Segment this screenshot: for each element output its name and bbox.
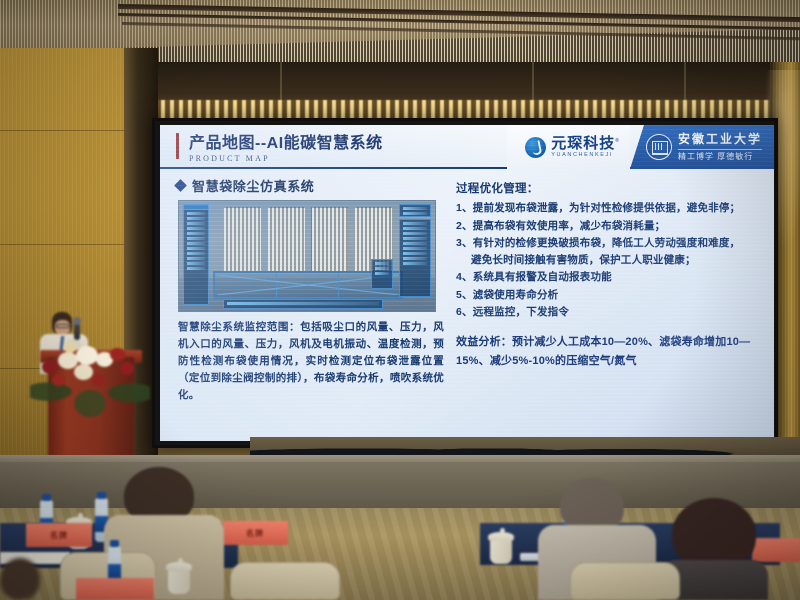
diamond-bullet-icon	[174, 179, 187, 192]
list-item-num: 4、	[456, 271, 473, 283]
list-item: 6、远程监控，下发指令	[456, 304, 762, 321]
benefit-analysis-text: 效益分析：预计减少人工成本10—20%、滤袋寿命增加10—15%、减少5%-10…	[456, 333, 762, 370]
yuanchen-logo-icon	[525, 137, 546, 158]
list-item-num: 2、	[456, 220, 473, 232]
simulation-screenshot-image	[178, 200, 436, 312]
slide-header: 产品地图--AI能碳智慧系统 PRODUCT MAP 元琛科技® YUANCHE…	[160, 125, 774, 169]
list-item: 2、提高布袋有效使用率，减少布袋消耗量；	[456, 218, 762, 235]
list-item-continuation: 避免长时间接触有害物质，保护工人职业健康；	[456, 252, 762, 269]
list-item-num: 3、	[456, 237, 473, 249]
list-item: 3、有针对的检修更换破损布袋，降低工人劳动强度和难度，避免长时间接触有害物质，保…	[456, 235, 762, 268]
brand-zone: 元琛科技® YUANCHENKEJI 安徽工业大学 精工博学 厚德敏行	[507, 125, 774, 169]
filter-bag-array	[223, 207, 393, 273]
hud-panel-left	[183, 209, 209, 305]
registered-mark-icon: ®	[615, 138, 620, 144]
list-item-text: 远程监控，下发指令	[473, 306, 569, 318]
slide-right-column: 过程优化管理： 1、提前发现布袋泄露，为针对性检修提供依据，避免非停； 2、提高…	[456, 176, 762, 435]
slide-title-english: PRODUCT MAP	[189, 154, 383, 163]
slide-title: 产品地图--AI能碳智慧系统	[189, 129, 383, 153]
hud-panel-mid	[371, 259, 393, 289]
left-paragraph: 智慧除尘系统监控范围：包括吸尘口的风量、压力，风机入口的风量、压力，风机及电机振…	[178, 319, 444, 404]
list-item: 5、滤袋使用寿命分析	[456, 287, 762, 304]
section-title: 智慧袋除尘仿真系统	[192, 176, 314, 195]
university-name-block: 安徽工业大学 精工博学 厚德敏行	[678, 133, 762, 161]
title-block: 产品地图--AI能碳智慧系统 PRODUCT MAP	[189, 129, 383, 163]
university-seal-icon	[646, 134, 672, 160]
led-screen: 产品地图--AI能碳智慧系统 PRODUCT MAP 元琛科技® YUANCHE…	[152, 118, 778, 448]
decorative-light-band	[134, 100, 800, 120]
hud-panel-top-right	[399, 204, 431, 217]
tea-cup	[168, 568, 190, 594]
section-heading: 智慧袋除尘仿真系统	[174, 176, 446, 195]
university-logo-block: 安徽工业大学 精工博学 厚德敏行	[630, 125, 774, 169]
list-item-num: 6、	[456, 306, 473, 318]
list-item-text: 有针对的检修更换破损布袋，降低工人劳动强度和难度，	[473, 237, 741, 249]
university-name: 安徽工业大学	[678, 133, 762, 147]
list-item-text: 系统具有报警及自动报表功能	[473, 271, 612, 283]
title-accent-bar	[176, 133, 179, 159]
slide-left-column: 智慧袋除尘仿真系统	[174, 176, 446, 435]
presentation-slide: 产品地图--AI能碳智慧系统 PRODUCT MAP 元琛科技® YUANCHE…	[160, 125, 774, 441]
name-placard	[752, 538, 800, 562]
audience-head	[0, 558, 40, 600]
right-column-heading: 过程优化管理：	[456, 180, 762, 196]
company-logo-block: 元琛科技® YUANCHENKEJI	[507, 125, 630, 169]
university-motto: 精工博学 厚德敏行	[678, 149, 762, 161]
conference-photo-scene: 产品地图--AI能碳智慧系统 PRODUCT MAP 元琛科技® YUANCHE…	[0, 0, 800, 600]
list-item-text: 提高布袋有效使用率，减少布袋消耗量；	[473, 220, 666, 232]
list-item-num: 5、	[456, 289, 473, 301]
list-item-text: 滤袋使用寿命分析	[473, 289, 559, 301]
slide-body: 智慧袋除尘仿真系统	[160, 169, 774, 441]
name-placard: 名牌	[222, 521, 288, 545]
list-item-text: 提前发现布袋泄露，为针对性检修提供依据，避免非停；	[473, 202, 741, 214]
chair	[570, 562, 680, 600]
name-placard	[76, 578, 154, 600]
list-item: 1、提前发现布袋泄露，为针对性检修提供依据，避免非停；	[456, 200, 762, 217]
stage-front-face	[0, 462, 800, 514]
list-item: 4、系统具有报警及自动报表功能	[456, 269, 762, 286]
company-name-block: 元琛科技® YUANCHENKEJI	[551, 136, 620, 159]
screen-display-area: 产品地图--AI能碳智慧系统 PRODUCT MAP 元琛科技® YUANCHE…	[160, 125, 774, 441]
company-name-en: YUANCHENKEJI	[551, 153, 620, 159]
flower-arrangement	[34, 338, 146, 398]
hud-panel-bottom	[223, 299, 383, 309]
process-optimization-list: 1、提前发现布袋泄露，为针对性检修提供依据，避免非停； 2、提高布袋有效使用率，…	[456, 200, 762, 321]
company-name-cn: 元琛科技®	[551, 136, 620, 151]
glasses-icon	[56, 324, 70, 328]
list-item-num: 1、	[456, 202, 473, 214]
hud-panel-right	[399, 219, 431, 297]
tea-cup	[490, 538, 512, 564]
name-placard: 名牌	[26, 523, 92, 547]
chair	[230, 562, 340, 600]
